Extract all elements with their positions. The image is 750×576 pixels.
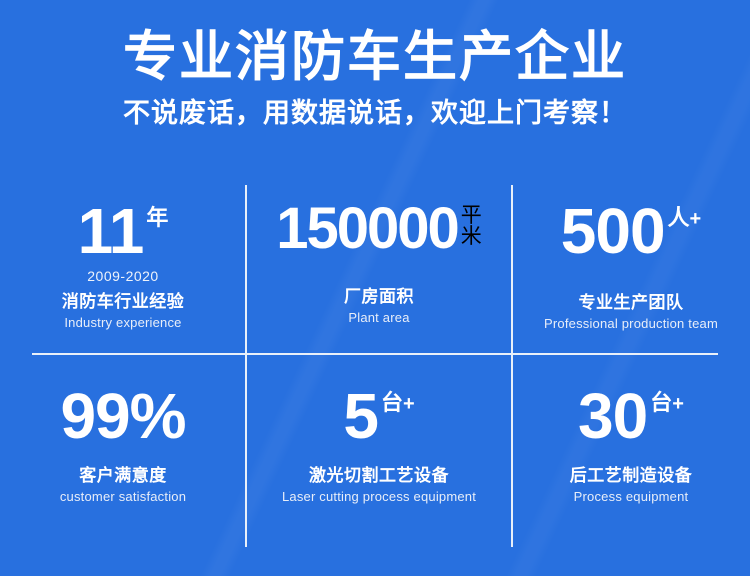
stat-unit: 年 (146, 201, 168, 229)
stat-value-group: 5 台+ (343, 386, 414, 447)
page-subtitle: 不说废话，用数据说话，欢迎上门考察！ (0, 86, 750, 129)
stat-label-en: Professional production team (544, 316, 718, 331)
stats-row-bottom: 99% 客户满意度 customer satisfaction 5 台+ 激光切… (0, 370, 750, 540)
stat-label-cn: 后工艺制造设备 (570, 461, 693, 486)
stat-label-cn: 专业生产团队 (579, 288, 684, 313)
stat-year-range: 2009-2020 (87, 268, 158, 284)
stat-label-cn: 消防车行业经验 (62, 287, 185, 312)
stat-cell-plant-area: 150000 平 米 厂房面积 Plant area (246, 185, 512, 355)
stat-unit: 台+ (650, 386, 684, 415)
stat-plus: + (672, 393, 684, 415)
stat-cell-customer-satisfaction: 99% 客户满意度 customer satisfaction (0, 370, 246, 540)
stats-grid: 11 年 2009-2020 消防车行业经验 Industry experien… (0, 185, 750, 547)
stat-cell-production-team: 500 人+ 专业生产团队 Professional production te… (512, 185, 750, 355)
stat-unit-top: 平 (461, 205, 482, 226)
stat-unit-text: 台 (381, 390, 403, 415)
stat-unit-bottom: 米 (461, 226, 482, 247)
stat-unit: 台+ (381, 386, 415, 415)
stat-label-en: Process equipment (574, 489, 689, 504)
stat-label-en: Plant area (348, 310, 409, 325)
stat-value-group: 30 台+ (578, 386, 684, 447)
page-title: 专业消防车生产企业 (0, 0, 750, 86)
stats-row-top: 11 年 2009-2020 消防车行业经验 Industry experien… (0, 185, 750, 355)
stat-number: 99% (60, 386, 185, 447)
grid-divider-horizontal (32, 353, 718, 355)
stat-cell-industry-experience: 11 年 2009-2020 消防车行业经验 Industry experien… (0, 185, 246, 355)
stat-number: 5 (343, 386, 378, 447)
stat-label-en: Laser cutting process equipment (282, 489, 476, 504)
stat-label-en: customer satisfaction (60, 489, 186, 504)
stat-cell-laser-cutting: 5 台+ 激光切割工艺设备 Laser cutting process equi… (246, 370, 512, 540)
stat-value-group: 99% (60, 386, 185, 447)
stat-value-group: 11 年 (78, 201, 169, 262)
banner-header: 专业消防车生产企业 不说废话，用数据说话，欢迎上门考察！ (0, 0, 750, 129)
stat-label-cn: 厂房面积 (344, 282, 414, 307)
stat-label-en: Industry experience (64, 315, 181, 330)
stat-number: 30 (578, 386, 647, 447)
stat-cell-process-equipment: 30 台+ 后工艺制造设备 Process equipment (512, 370, 750, 540)
stat-value-group: 150000 平 米 (276, 201, 482, 256)
grid-divider-vertical-left (245, 185, 247, 547)
stat-value-group: 500 人+ (561, 201, 701, 262)
stat-unit-stacked: 平 米 (461, 201, 482, 247)
stat-number: 11 (78, 201, 144, 262)
stat-unit: 人+ (668, 201, 702, 230)
stat-plus: + (690, 208, 702, 230)
grid-divider-vertical-right (511, 185, 513, 547)
stat-number: 500 (561, 201, 665, 262)
promo-banner: 专业消防车生产企业 不说废话，用数据说话，欢迎上门考察！ 11 年 2009-2… (0, 0, 750, 576)
stat-label-cn: 激光切割工艺设备 (309, 461, 449, 486)
stat-unit-text: 人 (668, 205, 690, 230)
stat-label-cn: 客户满意度 (79, 461, 167, 486)
stat-unit-text: 台 (650, 390, 672, 415)
stat-number: 150000 (276, 201, 458, 256)
stat-plus: + (403, 393, 415, 415)
